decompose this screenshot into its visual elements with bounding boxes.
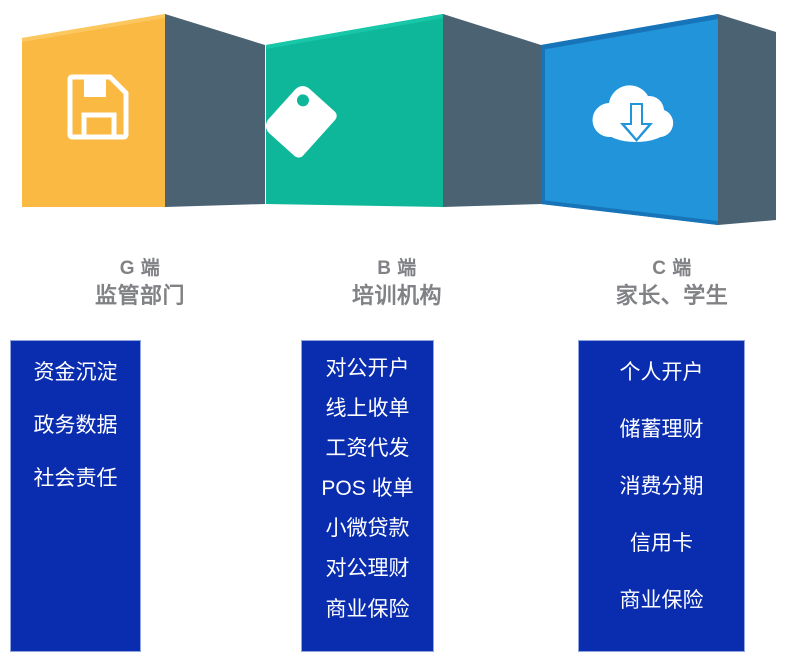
list-item: 信用卡 <box>630 532 693 555</box>
panel-headings: G 端 监管部门 B 端 培训机构 C 端 家长、学生 <box>0 252 792 332</box>
heading-b-duan: B 端 培训机构 <box>282 256 512 310</box>
connector-slate-1 <box>165 14 265 207</box>
ribbon-panel-band <box>0 0 792 240</box>
list-item: 消费分期 <box>620 475 704 498</box>
list-item: 对公理财 <box>326 557 410 580</box>
heading-b-line1: B 端 <box>282 256 512 281</box>
heading-g-line1: G 端 <box>20 256 260 281</box>
list-item: 储蓄理财 <box>620 418 704 441</box>
list-item: 商业保险 <box>620 589 704 612</box>
service-box-c: 个人开户 储蓄理财 消费分期 信用卡 商业保险 <box>578 340 745 652</box>
list-item: 商业保险 <box>326 598 410 621</box>
list-item: POS 收单 <box>321 477 413 500</box>
heading-c-duan: C 端 家长、学生 <box>552 256 792 310</box>
list-item: 政务数据 <box>34 414 118 437</box>
service-box-b: 对公开户 线上收单 工资代发 POS 收单 小微贷款 对公理财 商业保险 <box>301 340 434 652</box>
list-item: 社会责任 <box>34 467 118 490</box>
heading-c-line1: C 端 <box>552 256 792 281</box>
infographic-canvas: G 端 监管部门 B 端 培训机构 C 端 家长、学生 资金沉淀 政务数据 社会… <box>0 0 792 668</box>
connector-slate-2 <box>443 14 541 207</box>
panel-face-c-edge-left <box>541 45 545 204</box>
list-item: 线上收单 <box>326 397 410 420</box>
heading-g-line2: 监管部门 <box>20 281 260 310</box>
list-item: 对公开户 <box>326 357 410 380</box>
list-item: 个人开户 <box>620 361 704 384</box>
list-item: 资金沉淀 <box>34 361 118 384</box>
list-item: 小微贷款 <box>326 517 410 540</box>
heading-b-line2: 培训机构 <box>282 281 512 310</box>
connector-slate-3 <box>718 14 776 225</box>
service-box-g: 资金沉淀 政务数据 社会责任 <box>10 340 141 652</box>
panel-face-g <box>22 14 165 207</box>
heading-c-line2: 家长、学生 <box>552 281 792 310</box>
list-item: 工资代发 <box>326 437 410 460</box>
heading-g-duan: G 端 监管部门 <box>20 256 260 310</box>
